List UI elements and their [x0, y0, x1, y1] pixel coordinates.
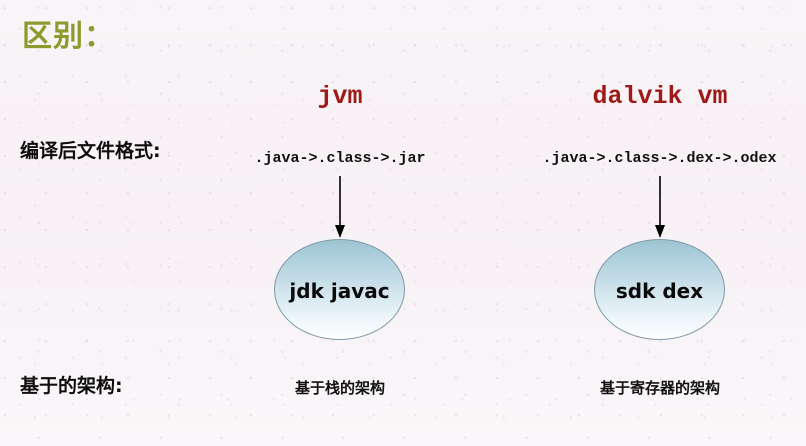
column-header-dalvik-vm: dalvik vm: [560, 82, 760, 111]
node-circle-sdk-dex: sdk dex: [594, 239, 725, 340]
node-label-sdk-dex: sdk dex: [616, 279, 703, 303]
row-label-compiled-file-format: 编译后文件格式:: [20, 136, 161, 163]
file-format-value-jvm: .java->.class->.jar: [240, 150, 440, 167]
arrow-down-icon: [331, 176, 349, 238]
architecture-value-dalvik: 基于寄存器的架构: [560, 377, 760, 398]
architecture-value-jvm: 基于栈的架构: [240, 377, 440, 398]
slide-canvas: 区别： jvm dalvik vm 编译后文件格式: .java->.class…: [0, 0, 806, 446]
arrow-down-icon: [651, 176, 669, 238]
column-header-jvm: jvm: [240, 82, 440, 111]
node-label-jdk-javac: jdk javac: [289, 279, 389, 303]
arrow-down-icon-jvm: [331, 176, 349, 238]
row-label-architecture: 基于的架构:: [20, 371, 123, 398]
arrow-down-icon-dalvik: [651, 176, 669, 238]
node-circle-jdk-javac: jdk javac: [274, 239, 405, 340]
file-format-value-dalvik: .java->.class->.dex->.odex: [513, 150, 806, 167]
page-title: 区别：: [22, 20, 115, 53]
